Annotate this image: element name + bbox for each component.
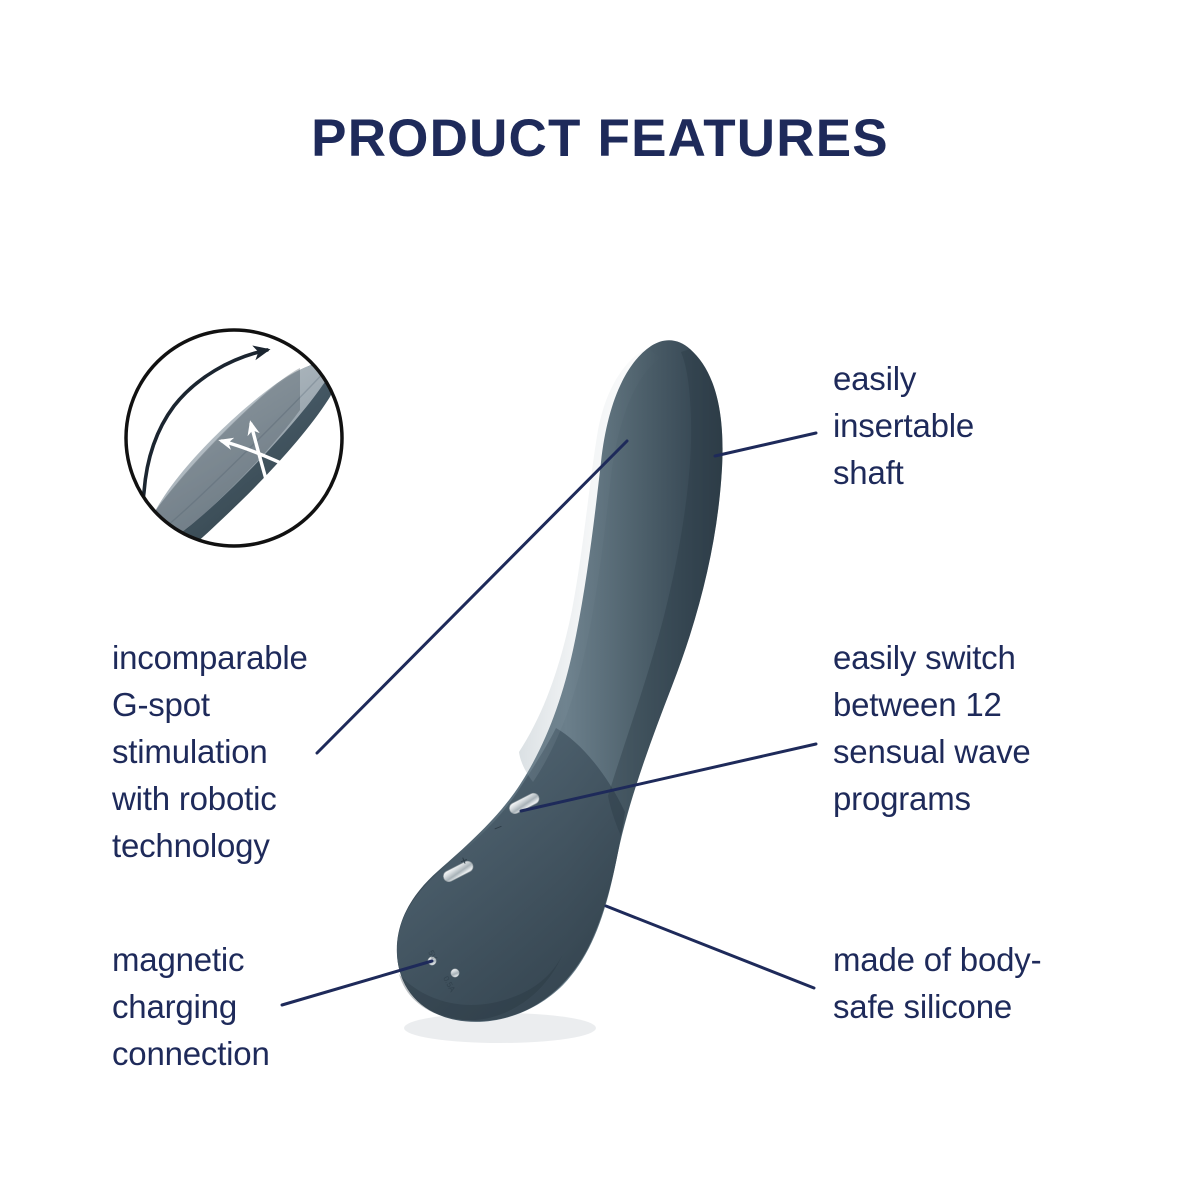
product-features-infographic: PRODUCT FEATURES [0,0,1200,1200]
leader-line-insertable-shaft [715,433,816,456]
feature-line: sensual wave [833,728,1031,775]
feature-line: between 12 [833,681,1031,728]
product-handle [397,728,625,1021]
inset-tip-shade [128,368,300,572]
feature-line: shaft [833,449,974,496]
feature-line: easily switch [833,634,1031,681]
feature-line: stimulation [112,728,308,775]
leader-line-body-safe [606,906,814,988]
feature-line: with robotic [112,775,308,822]
feature-line: incomparable [112,634,308,681]
feature-line: easily [833,355,974,402]
feature-label-gspot: incomparableG-spotstimulationwith roboti… [112,634,308,869]
feature-label-body-safe: made of body-safe silicone [833,936,1041,1030]
feature-line: programs [833,775,1031,822]
feature-line: G-spot [112,681,308,728]
feature-label-switch-programs: easily switchbetween 12sensual waveprogr… [833,634,1031,822]
feature-line: insertable [833,402,974,449]
tip-flexibility-inset [123,330,342,587]
charging-contact-pin [451,969,459,977]
feature-label-magnetic: magneticchargingconnection [112,936,270,1077]
feature-line: safe silicone [833,983,1041,1030]
feature-line: made of body- [833,936,1041,983]
feature-line: charging [112,983,270,1030]
feature-label-insertable-shaft: easilyinsertableshaft [833,355,974,496]
feature-line: magnetic [112,936,270,983]
feature-line: connection [112,1030,270,1077]
feature-line: technology [112,822,308,869]
product-render: – + 5V 0.5A [397,340,723,1043]
